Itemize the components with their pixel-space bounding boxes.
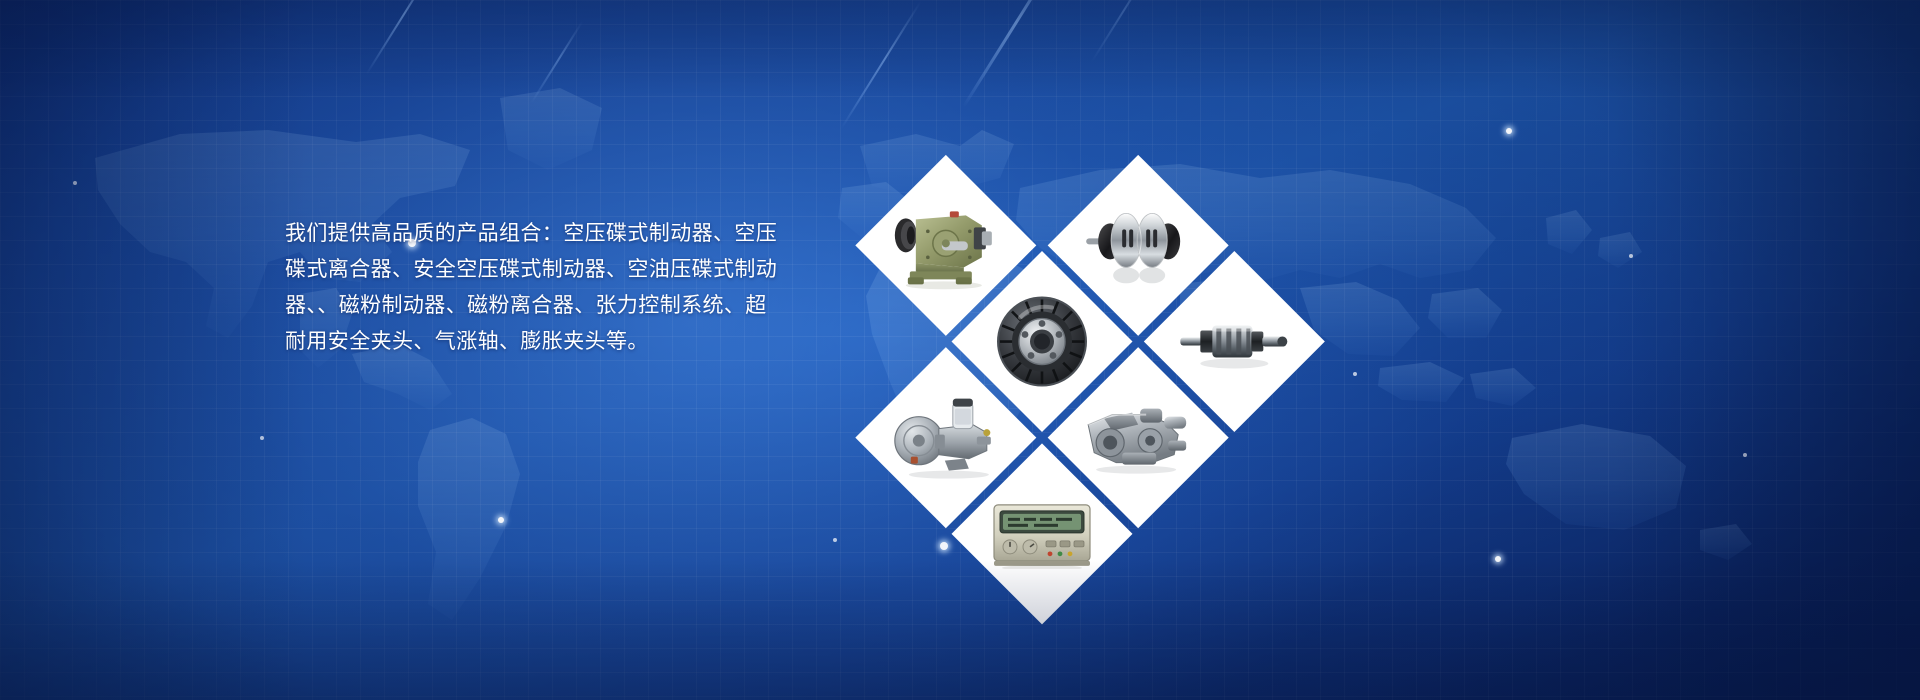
sparkle-icon: [1743, 453, 1747, 457]
disc-brake-pair-icon: [1074, 181, 1202, 309]
promo-copy-line-4: 耐用安全夹头、气涨轴、膨胀夹头等。: [285, 324, 765, 360]
promo-copy-line-1: 我们提供高品质的产品组合：空压碟式制动器、空压: [285, 216, 765, 252]
sparkle-icon: [1629, 254, 1633, 258]
sparkle-icon: [833, 538, 837, 542]
gearbox-reducer-icon: [882, 181, 1010, 309]
light-streak-icon: [366, 0, 437, 75]
brake-booster-icon: [882, 374, 1010, 502]
hero-banner: 我们提供高品质的产品组合：空压碟式制动器、空压 碟式离合器、安全空压碟式制动器、…: [0, 0, 1920, 700]
product-diamond-mosaic: [745, 53, 1339, 647]
sparkle-icon: [1353, 372, 1357, 376]
magnetic-powder-brake-icon: [978, 278, 1106, 406]
sparkle-icon: [73, 181, 77, 185]
sparkle-icon: [1506, 128, 1512, 134]
light-streak-icon: [1091, 0, 1151, 62]
sparkle-icon: [1495, 556, 1501, 562]
sparkle-icon: [498, 517, 504, 523]
hydraulic-caliper-icon: [1074, 374, 1202, 502]
sparkle-icon: [260, 436, 264, 440]
promo-copy: 我们提供高品质的产品组合：空压碟式制动器、空压 碟式离合器、安全空压碟式制动器、…: [285, 216, 765, 360]
light-streak-icon: [840, 1, 921, 129]
promo-copy-line-3: 器、、磁粉制动器、磁粉离合器、张力控制系统、超: [285, 288, 765, 324]
pneumatic-shaft-icon: [1170, 278, 1298, 406]
light-streak-icon: [531, 21, 584, 103]
tension-controller-icon: [978, 470, 1106, 598]
promo-copy-line-2: 碟式离合器、安全空压碟式制动器、空油压碟式制动: [285, 252, 765, 288]
